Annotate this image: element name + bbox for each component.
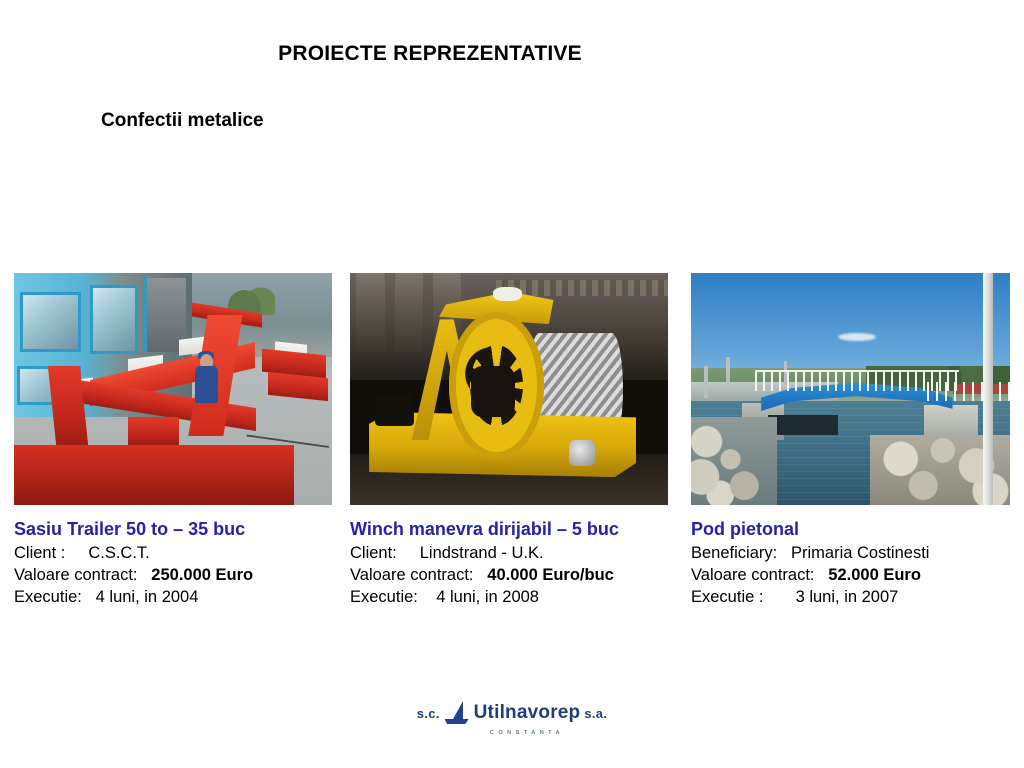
rocky-bank-left [691, 417, 777, 505]
detail-row: Executie: 4 luni, in 2008 [350, 587, 668, 609]
photo-blue-pedestrian-bridge [691, 273, 1010, 505]
detail-row: Client: Lindstrand - U.K. [350, 543, 668, 565]
detail-value: 4 luni, in 2004 [96, 588, 199, 606]
company-logo: s.c. Utilnavorep CONSTANTA s.a. [0, 700, 1024, 726]
detail-row: Executie : 3 luni, in 2007 [691, 587, 1010, 609]
window-pane [20, 292, 80, 352]
logo-company-text: Utilnavorep [474, 702, 581, 723]
logo-city-text: CONSTANTA [490, 730, 564, 736]
detail-row: Valoare contract: 40.000 Euro/buc [350, 565, 668, 587]
sailboat-icon [444, 700, 470, 726]
gearbox [375, 394, 413, 426]
foreground-pole [983, 273, 993, 505]
detail-label: Executie : [691, 588, 763, 606]
section-subtitle: Confectii metalice [101, 110, 264, 132]
detail-row: Valoare contract: 250.000 Euro [14, 565, 332, 587]
project-card-2: Winch manevra dirijabil – 5 buc Client: … [350, 273, 668, 609]
sailboat-hull [445, 719, 469, 724]
detail-label: Executie: [14, 588, 82, 606]
logo-prefix: s.c. [417, 706, 440, 721]
logo-suffix: s.a. [584, 706, 607, 721]
detail-value: 250.000 Euro [151, 566, 253, 584]
winch-hub [471, 366, 516, 417]
project-title-3: Pod pietonal [691, 519, 1010, 540]
window-pane [90, 285, 138, 355]
detail-label: Client: [350, 544, 397, 562]
detail-value: 40.000 Euro/buc [487, 566, 614, 584]
overhead-beam [496, 280, 668, 296]
wall-column [395, 273, 424, 352]
photo-yellow-winch [350, 273, 668, 505]
detail-value: 3 luni, in 2007 [796, 588, 899, 606]
detail-value: Primaria Costinesti [791, 544, 929, 562]
logo-company-name: Utilnavorep CONSTANTA [474, 702, 581, 724]
detail-label: Executie: [350, 588, 418, 606]
page-title: PROIECTE REPREZENTATIVE [0, 42, 860, 66]
lamp-post [704, 366, 708, 398]
shackle [569, 440, 594, 466]
detail-label: Beneficiary: [691, 544, 777, 562]
detail-row: Client : C.S.C.T. [14, 543, 332, 565]
sailboat-sail [452, 701, 463, 721]
photo-red-trailer-chassis [14, 273, 332, 505]
detail-label: Valoare contract: [691, 566, 815, 584]
project-details-2: Client: Lindstrand - U.K. Valoare contra… [350, 543, 668, 609]
detail-value: C.S.C.T. [88, 544, 149, 562]
detail-value: 4 luni, in 2008 [436, 588, 539, 606]
lamp-post [726, 357, 730, 389]
detail-label: Valoare contract: [350, 566, 474, 584]
project-title-2: Winch manevra dirijabil – 5 buc [350, 519, 668, 540]
promenade-railing [927, 382, 1010, 401]
detail-row: Beneficiary: Primaria Costinesti [691, 543, 1010, 565]
bridge-shadow [768, 415, 838, 436]
bridge-railing-top [755, 370, 959, 372]
detail-label: Client : [14, 544, 65, 562]
detail-label: Valoare contract: [14, 566, 138, 584]
project-title-1: Sasiu Trailer 50 to – 35 buc [14, 519, 332, 540]
project-card-3: Pod pietonal Beneficiary: Primaria Costi… [691, 273, 1010, 609]
lifting-hook [493, 287, 522, 301]
project-details-1: Client : C.S.C.T. Valoare contract: 250.… [14, 543, 332, 609]
worker-torso [195, 366, 217, 403]
detail-row: Valoare contract: 52.000 Euro [691, 565, 1010, 587]
project-details-3: Beneficiary: Primaria Costinesti Valoare… [691, 543, 1010, 609]
wall-column [356, 273, 385, 352]
detail-row: Executie: 4 luni, in 2004 [14, 587, 332, 609]
detail-value: 52.000 Euro [828, 566, 921, 584]
detail-value: Lindstrand - U.K. [420, 544, 544, 562]
red-chassis-beam [128, 417, 179, 445]
project-card-1: Sasiu Trailer 50 to – 35 buc Client : C.… [14, 273, 332, 609]
